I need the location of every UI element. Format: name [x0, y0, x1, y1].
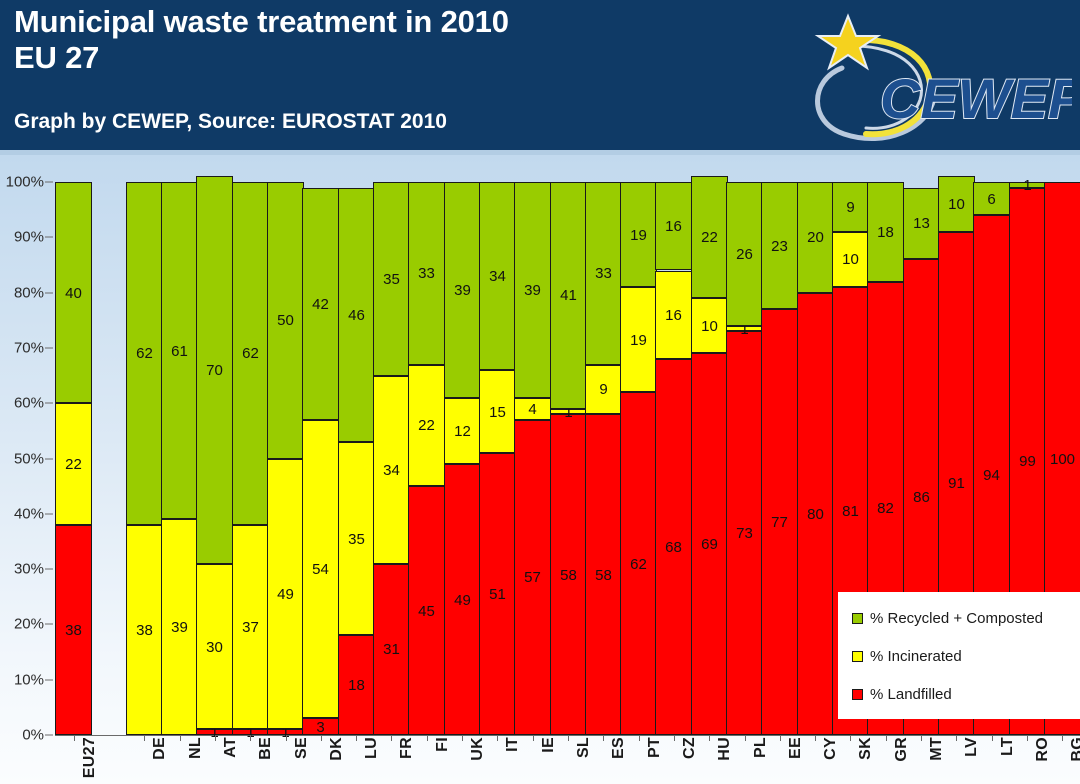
- bar-segment-landfilled: [479, 453, 516, 735]
- y-axis-tick-mark: [45, 237, 53, 238]
- bar-column: 452233: [408, 182, 445, 735]
- y-axis-tick-mark: [45, 569, 53, 570]
- bar-column: 511534: [479, 182, 516, 735]
- x-axis-tick-mark: [921, 735, 922, 741]
- x-axis-tick-mark: [391, 735, 392, 741]
- x-axis-tick-mark: [815, 735, 816, 741]
- bar-segment-recycled: [302, 188, 339, 420]
- x-axis-tick-label: AT: [222, 737, 240, 758]
- bar-segment-incinerated: [514, 398, 551, 420]
- bar-segment-recycled: [232, 182, 269, 525]
- bar-segment-recycled: [514, 182, 551, 398]
- bar-column: 621919: [620, 182, 657, 735]
- bar-segment-recycled: [1009, 182, 1046, 188]
- y-axis-tick-label: 90%: [14, 229, 44, 246]
- x-axis-tick-mark: [1062, 735, 1063, 741]
- bar-column: 183546: [338, 182, 375, 735]
- legend-swatch-icon: [852, 651, 863, 662]
- chart-page: Municipal waste treatment in 2010 EU 27 …: [0, 0, 1080, 784]
- bar-segment-recycled: [585, 182, 622, 364]
- title-line-2: EU 27: [14, 40, 509, 76]
- x-axis-tick-label: IT: [504, 737, 522, 752]
- bar-segment-incinerated: [832, 232, 869, 287]
- bar-segment-landfilled: [55, 525, 92, 735]
- x-axis-tick-mark: [144, 735, 145, 741]
- cewep-logo-svg: CEWEP: [782, 6, 1072, 146]
- legend-label: % Incinerated: [870, 648, 962, 665]
- y-axis: 0%10%20%30%40%50%60%70%80%90%100%: [0, 155, 56, 765]
- bar-segment-recycled: [867, 182, 904, 282]
- bar-segment-recycled: [196, 176, 233, 563]
- x-axis-tick-label: EU27: [81, 737, 99, 778]
- y-axis-tick-mark: [45, 347, 53, 348]
- bar-segment-incinerated: [196, 564, 233, 730]
- bar-segment-landfilled: [444, 464, 481, 735]
- bar-segment-incinerated: [408, 365, 445, 487]
- x-axis-tick-mark: [215, 735, 216, 741]
- x-axis-tick-label: LU: [363, 737, 381, 759]
- bar-segment-incinerated: [620, 287, 657, 392]
- page-title: Municipal waste treatment in 2010 EU 27: [14, 4, 509, 76]
- x-axis-tick-label: BE: [257, 737, 275, 760]
- x-axis-tick-mark: [992, 735, 993, 741]
- x-axis-tick-label: LT: [999, 737, 1017, 756]
- y-axis-tick-label: 50%: [14, 450, 44, 467]
- x-axis-tick-mark: [886, 735, 887, 741]
- x-axis-tick-mark: [568, 735, 569, 741]
- logo-wordmark: CEWEP: [880, 67, 1072, 130]
- bar-segment-incinerated: [373, 376, 410, 564]
- bar-segment-recycled: [726, 182, 763, 326]
- y-axis-tick-label: 0%: [22, 727, 44, 744]
- x-axis-tick-label: CY: [822, 737, 840, 760]
- bar-segment-recycled: [655, 182, 692, 270]
- bar-segment-recycled: [161, 182, 198, 519]
- bar-column: 3862: [126, 182, 163, 735]
- y-axis-tick-label: 60%: [14, 395, 44, 412]
- y-axis-tick-label: 70%: [14, 339, 44, 356]
- y-axis-tick-label: 80%: [14, 284, 44, 301]
- title-line-1: Municipal waste treatment in 2010: [14, 4, 509, 40]
- x-axis-tick-label: LV: [963, 737, 981, 757]
- bar-segment-recycled: [408, 182, 445, 364]
- x-axis-tick-label: FI: [434, 737, 452, 752]
- bar-segment-recycled: [338, 188, 375, 442]
- bar-segment-recycled: [373, 182, 410, 376]
- x-axis-tick-mark: [356, 735, 357, 741]
- bar-segment-landfilled: [408, 486, 445, 735]
- bar-segment-landfilled: [338, 635, 375, 735]
- x-axis-tick-mark: [745, 735, 746, 741]
- bar-segment-incinerated: [302, 420, 339, 719]
- x-axis-tick-label: BG: [1069, 737, 1080, 762]
- x-axis-tick-label: PL: [752, 737, 770, 758]
- x-axis-tick-label: EE: [787, 737, 805, 759]
- x-axis-tick-mark: [74, 735, 75, 741]
- bar-column: 7723: [761, 182, 798, 735]
- bar-column: 8020: [797, 182, 834, 735]
- bar-column: 58933: [585, 182, 622, 735]
- x-axis-tick-mark: [321, 735, 322, 741]
- bar-segment-landfilled: [585, 414, 622, 735]
- bar-segment-incinerated: [161, 519, 198, 735]
- bar-column: 14950: [267, 182, 304, 735]
- bar-segment-recycled: [620, 182, 657, 287]
- x-axis-tick-label: SK: [857, 737, 875, 760]
- bar-segment-recycled: [479, 182, 516, 370]
- bar-column: 13762: [232, 182, 269, 735]
- bar-segment-incinerated: [479, 370, 516, 453]
- y-axis-tick-label: 40%: [14, 505, 44, 522]
- x-axis-tick-label: FR: [398, 737, 416, 759]
- bar-segment-recycled: [550, 182, 587, 409]
- bar-segment-incinerated: [55, 403, 92, 525]
- legend-item: % Landfilled: [852, 686, 952, 703]
- star-icon: [818, 16, 878, 68]
- y-axis-tick-mark: [45, 182, 53, 183]
- x-axis-tick-label: ES: [610, 737, 628, 759]
- bar-segment-recycled: [903, 188, 940, 260]
- bar-segment-recycled: [55, 182, 92, 403]
- x-axis-tick-label: SL: [575, 737, 593, 758]
- bar-column: 681616: [655, 182, 692, 735]
- x-axis-tick-label: HU: [716, 737, 734, 761]
- x-axis-tick-label: NL: [187, 737, 205, 759]
- bar-column: 491239: [444, 182, 481, 735]
- x-axis-tick-mark: [603, 735, 604, 741]
- x-axis-tick-mark: [780, 735, 781, 741]
- bar-column: 73126: [726, 182, 763, 735]
- x-axis-tick-label: IE: [540, 737, 558, 753]
- legend-label: % Recycled + Composted: [870, 610, 1043, 627]
- bar-segment-recycled: [761, 182, 798, 309]
- bar-segment-incinerated: [444, 398, 481, 464]
- x-axis-tick-mark: [462, 735, 463, 741]
- x-axis-tick-mark: [427, 735, 428, 741]
- y-axis-tick-mark: [45, 403, 53, 404]
- x-axis-tick-mark: [533, 735, 534, 741]
- legend-label: % Landfilled: [870, 686, 952, 703]
- bar-column: 57439: [514, 182, 551, 735]
- x-axis-tick-label: RO: [1034, 737, 1052, 762]
- bar-segment-recycled: [832, 182, 869, 232]
- bar-segment-landfilled: [655, 359, 692, 735]
- bar-segment-incinerated: [550, 409, 587, 415]
- bar-column: 58141: [550, 182, 587, 735]
- subtitle: Graph by CEWEP, Source: EUROSTAT 2010: [14, 110, 447, 134]
- bar-column: 3961: [161, 182, 198, 735]
- legend-item: % Incinerated: [852, 648, 962, 665]
- y-axis-tick-label: 100%: [6, 174, 44, 191]
- y-axis-tick-mark: [45, 292, 53, 293]
- x-axis-tick-label: SE: [293, 737, 311, 759]
- bar-segment-incinerated: [691, 298, 728, 353]
- bar-segment-incinerated: [726, 326, 763, 332]
- bar-segment-landfilled: [691, 353, 728, 735]
- x-axis-tick-mark: [286, 735, 287, 741]
- x-axis-tick-label: UK: [469, 737, 487, 761]
- bar-segment-recycled: [797, 182, 834, 293]
- x-axis-tick-mark: [250, 735, 251, 741]
- y-axis-tick-mark: [45, 624, 53, 625]
- bar-segment-incinerated: [338, 442, 375, 636]
- bar-segment-landfilled: [550, 414, 587, 735]
- bar-segment-landfilled: [514, 420, 551, 735]
- bar-segment-incinerated: [655, 271, 692, 359]
- bar-segment-recycled: [691, 176, 728, 298]
- bar-segment-recycled: [973, 182, 1010, 215]
- bar-segment-landfilled: [726, 331, 763, 735]
- legend-swatch-icon: [852, 613, 863, 624]
- x-axis-tick-mark: [180, 735, 181, 741]
- bar-column: 13070: [196, 182, 233, 735]
- x-axis-tick-mark: [850, 735, 851, 741]
- x-axis-tick-mark: [674, 735, 675, 741]
- legend-swatch-icon: [852, 689, 863, 700]
- bar-segment-recycled: [938, 176, 975, 231]
- y-axis-tick-mark: [45, 513, 53, 514]
- bar-segment-landfilled: [761, 309, 798, 735]
- bar-segment-landfilled: [797, 293, 834, 735]
- bar-segment-recycled: [267, 182, 304, 459]
- y-axis-tick-mark: [45, 679, 53, 680]
- chart-legend: % Recycled + Composted% Incinerated% Lan…: [838, 592, 1080, 719]
- x-axis-tick-mark: [497, 735, 498, 741]
- bar-segment-incinerated: [585, 365, 622, 415]
- bar-segment-landfilled: [620, 392, 657, 735]
- y-axis-tick-mark: [45, 735, 53, 736]
- y-axis-tick-label: 10%: [14, 671, 44, 688]
- cewep-logo: CEWEP: [782, 6, 1072, 146]
- y-axis-tick-mark: [45, 458, 53, 459]
- bar-segment-incinerated: [267, 459, 304, 730]
- bar-segment-incinerated: [232, 525, 269, 730]
- x-axis-tick-label: DE: [151, 737, 169, 760]
- bar-column: 313435: [373, 182, 410, 735]
- bar-column: 382240: [55, 182, 92, 735]
- y-axis-tick-label: 30%: [14, 561, 44, 578]
- bar-column: 35442: [302, 182, 339, 735]
- bar-column: 691022: [691, 182, 728, 735]
- x-axis-tick-mark: [1027, 735, 1028, 741]
- x-axis-tick-label: CZ: [681, 737, 699, 759]
- header-banner: Municipal waste treatment in 2010 EU 27 …: [0, 0, 1080, 155]
- bar-segment-recycled: [126, 182, 163, 525]
- y-axis-tick-label: 20%: [14, 616, 44, 633]
- bar-segment-landfilled: [373, 564, 410, 735]
- x-axis-tick-mark: [709, 735, 710, 741]
- legend-item: % Recycled + Composted: [852, 610, 1043, 627]
- bar-segment-landfilled: [302, 718, 339, 735]
- x-axis-tick-mark: [956, 735, 957, 741]
- bar-segment-recycled: [444, 182, 481, 398]
- bar-segment-incinerated: [126, 525, 163, 735]
- x-axis-tick-label: PT: [646, 737, 664, 758]
- x-axis-tick-label: GR: [893, 737, 911, 762]
- x-axis-tick-label: MT: [928, 737, 946, 761]
- x-axis-tick-mark: [639, 735, 640, 741]
- x-axis-tick-label: DK: [328, 737, 346, 761]
